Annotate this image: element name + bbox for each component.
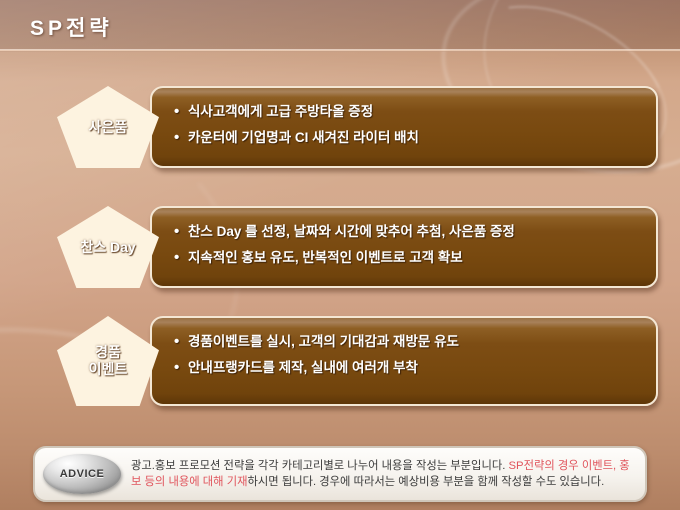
list-item: 안내프랭카드를 제작, 실내에 여러개 부착 xyxy=(174,355,656,381)
advice-segment-plain-tail: 하시면 됩니다. 경우에 따라서는 예상비용 부분을 함께 작성할 수도 있습니… xyxy=(248,476,605,488)
list-item: 경품이벤트를 실시, 고객의 기대감과 재방문 유도 xyxy=(174,329,656,355)
slide-canvas: SP전략 사은품 식사고객에게 고급 주방타올 증정 카운터에 기업명과 CI … xyxy=(0,0,680,510)
strategy-badge-label: 사은품 xyxy=(89,119,128,136)
strategy-content-panel: 찬스 Day 를 선정, 날짜와 시간에 맞추어 추첨, 사은품 증정 지속적인… xyxy=(150,206,658,288)
strategy-badge-label: 찬스 Day xyxy=(80,239,135,256)
strategy-badge-pentagon: 사은품 xyxy=(57,86,159,168)
advice-badge-label: ADVICE xyxy=(60,468,105,480)
advice-box: ADVICE 광고.홍보 프로모션 전략을 각각 카테고리별로 나누어 내용을 … xyxy=(33,446,647,502)
advice-segment-plain: 광고.홍보 프로모션 전략을 각각 카테고리별로 나누어 내용을 작성는 부분입… xyxy=(131,460,509,472)
page-title: SP전략 xyxy=(30,12,113,42)
strategy-row: 경품 이벤트 경품이벤트를 실시, 고객의 기대감과 재방문 유도 안내프랭카드… xyxy=(0,316,680,406)
advice-text: 광고.홍보 프로모션 전략을 각각 카테고리별로 나누어 내용을 작성는 부분입… xyxy=(131,458,635,491)
strategy-row: 찬스 Day 찬스 Day 를 선정, 날짜와 시간에 맞추어 추첨, 사은품 … xyxy=(0,206,680,288)
list-item: 식사고객에게 고급 주방타올 증정 xyxy=(174,99,656,125)
strategy-badge-pentagon: 경품 이벤트 xyxy=(57,316,159,406)
strategy-content-panel: 식사고객에게 고급 주방타올 증정 카운터에 기업명과 CI 새겨진 라이터 배… xyxy=(150,86,658,168)
list-item: 카운터에 기업명과 CI 새겨진 라이터 배치 xyxy=(174,125,656,151)
list-item: 지속적인 홍보 유도, 반복적인 이벤트로 고객 확보 xyxy=(174,245,656,271)
strategy-row: 사은품 식사고객에게 고급 주방타올 증정 카운터에 기업명과 CI 새겨진 라… xyxy=(0,86,680,168)
strategy-badge-pentagon: 찬스 Day xyxy=(57,206,159,288)
header-divider xyxy=(0,49,680,52)
strategy-badge-label: 경품 이벤트 xyxy=(89,344,128,378)
advice-badge-icon: ADVICE xyxy=(43,454,121,494)
strategy-content-panel: 경품이벤트를 실시, 고객의 기대감과 재방문 유도 안내프랭카드를 제작, 실… xyxy=(150,316,658,406)
list-item: 찬스 Day 를 선정, 날짜와 시간에 맞추어 추첨, 사은품 증정 xyxy=(174,219,656,245)
slide-header: SP전략 xyxy=(0,0,680,50)
